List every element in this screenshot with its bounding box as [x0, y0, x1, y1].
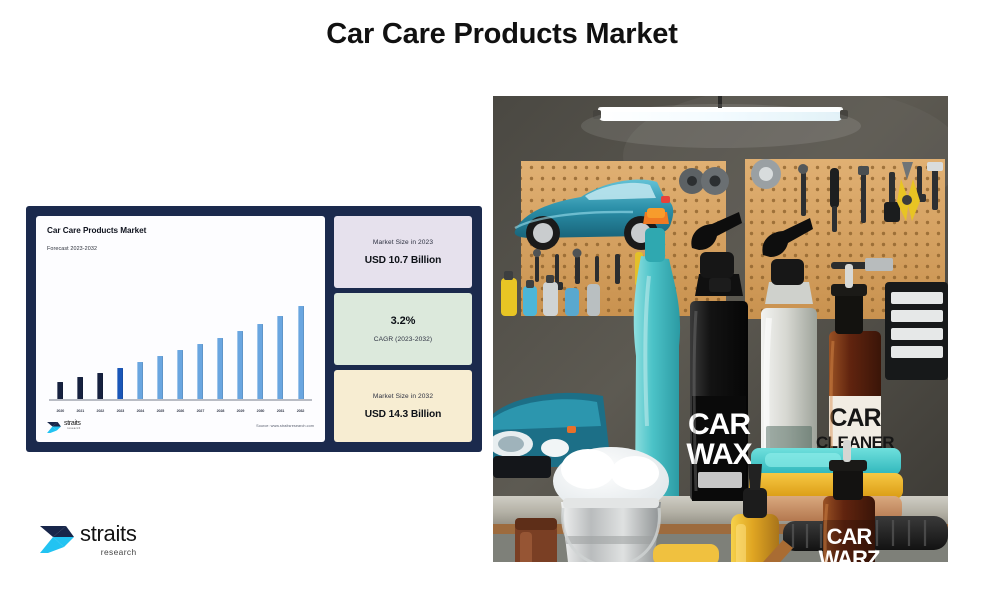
bar-slot — [191, 306, 210, 400]
x-tick-2032: 2032 — [291, 409, 310, 413]
bar-slot — [111, 306, 130, 400]
x-tick-2020: 2020 — [51, 409, 70, 413]
bar-2022 — [97, 373, 103, 400]
x-tick-2027: 2027 — [191, 409, 210, 413]
x-axis-tick-labels: 2020202120222023202420252026202720282029… — [51, 409, 310, 413]
straits-arrow-icon — [47, 420, 61, 431]
bar-2032 — [298, 306, 304, 400]
chart-panel: Car Care Products Market Forecast 2023-2… — [36, 216, 325, 442]
stat-label: Market Size in 2023 — [373, 239, 433, 246]
stat-value: USD 10.7 Billion — [365, 255, 442, 266]
bar-2024 — [137, 362, 143, 400]
x-tick-2026: 2026 — [171, 409, 190, 413]
bar-slot — [91, 306, 110, 400]
bar-2021 — [77, 377, 83, 400]
bar-2025 — [157, 356, 163, 400]
stat-card-cagr: 3.2%CAGR (2023-2032) — [334, 293, 472, 365]
bar-2026 — [177, 350, 183, 400]
x-tick-2023: 2023 — [111, 409, 130, 413]
stat-card-list: Market Size in 2023USD 10.7 Billion3.2%C… — [334, 216, 472, 442]
brand-logo-subtitle: research — [80, 548, 137, 556]
page-title: Car Care Products Market — [0, 18, 1004, 51]
x-tick-2029: 2029 — [231, 409, 250, 413]
bar-slot — [71, 306, 90, 400]
brand-logo-name: straits — [80, 523, 137, 545]
car-care-products-photo: CAR WAX CAR CLEANER — [493, 96, 948, 562]
svg-text:CAR: CAR — [688, 408, 751, 441]
x-tick-2024: 2024 — [131, 409, 150, 413]
x-tick-2030: 2030 — [251, 409, 270, 413]
chart-subtitle: Forecast 2023-2032 — [47, 246, 314, 252]
svg-text:CAR: CAR — [829, 404, 881, 432]
x-tick-2028: 2028 — [211, 409, 230, 413]
chart-title: Car Care Products Market — [47, 226, 314, 235]
stat-card-market-size-2023: Market Size in 2023USD 10.7 Billion — [334, 216, 472, 288]
bar-2027 — [197, 344, 203, 400]
bar-slot — [231, 306, 250, 400]
chart-source-text: Source: www.straitsresearch.com — [256, 424, 314, 428]
x-axis-line — [49, 399, 312, 401]
bar-2031 — [277, 316, 283, 400]
bar-slot — [51, 306, 70, 400]
x-tick-2022: 2022 — [91, 409, 110, 413]
stat-label: Market Size in 2032 — [373, 393, 433, 400]
bar-slot — [291, 306, 310, 400]
stat-label: CAGR (2023-2032) — [374, 336, 432, 343]
bar-slot — [151, 306, 170, 400]
bar-slot — [271, 306, 290, 400]
bar-2029 — [237, 331, 243, 400]
straits-arrow-icon — [40, 526, 74, 553]
bar-slot — [211, 306, 230, 400]
brand-logo[interactable]: straits research — [40, 523, 137, 556]
bar-slot — [131, 306, 150, 400]
stat-card-market-size-2032: Market Size in 2032USD 14.3 Billion — [334, 370, 472, 442]
bar-2023 — [117, 368, 123, 400]
bar-chart-plot: 2020202120222023202420252026202720282029… — [47, 256, 314, 416]
chart-footer: straits research Source: www.straitsrese… — [47, 417, 314, 434]
bar-slot — [251, 306, 270, 400]
chart-brand-logo: straits research — [47, 420, 81, 431]
bar-slot — [171, 306, 190, 400]
bar-series — [51, 306, 310, 400]
logo-subtitle: research — [64, 428, 81, 431]
stat-value: 3.2% — [391, 315, 416, 327]
x-tick-2031: 2031 — [271, 409, 290, 413]
stat-value: USD 14.3 Billion — [365, 409, 442, 420]
x-tick-2021: 2021 — [71, 409, 90, 413]
svg-text:WARZ: WARZ — [819, 546, 880, 562]
infographic-card: Car Care Products Market Forecast 2023-2… — [26, 206, 482, 452]
bar-2028 — [217, 338, 223, 400]
bar-2020 — [57, 382, 63, 400]
bar-2030 — [257, 324, 263, 400]
x-tick-2025: 2025 — [151, 409, 170, 413]
